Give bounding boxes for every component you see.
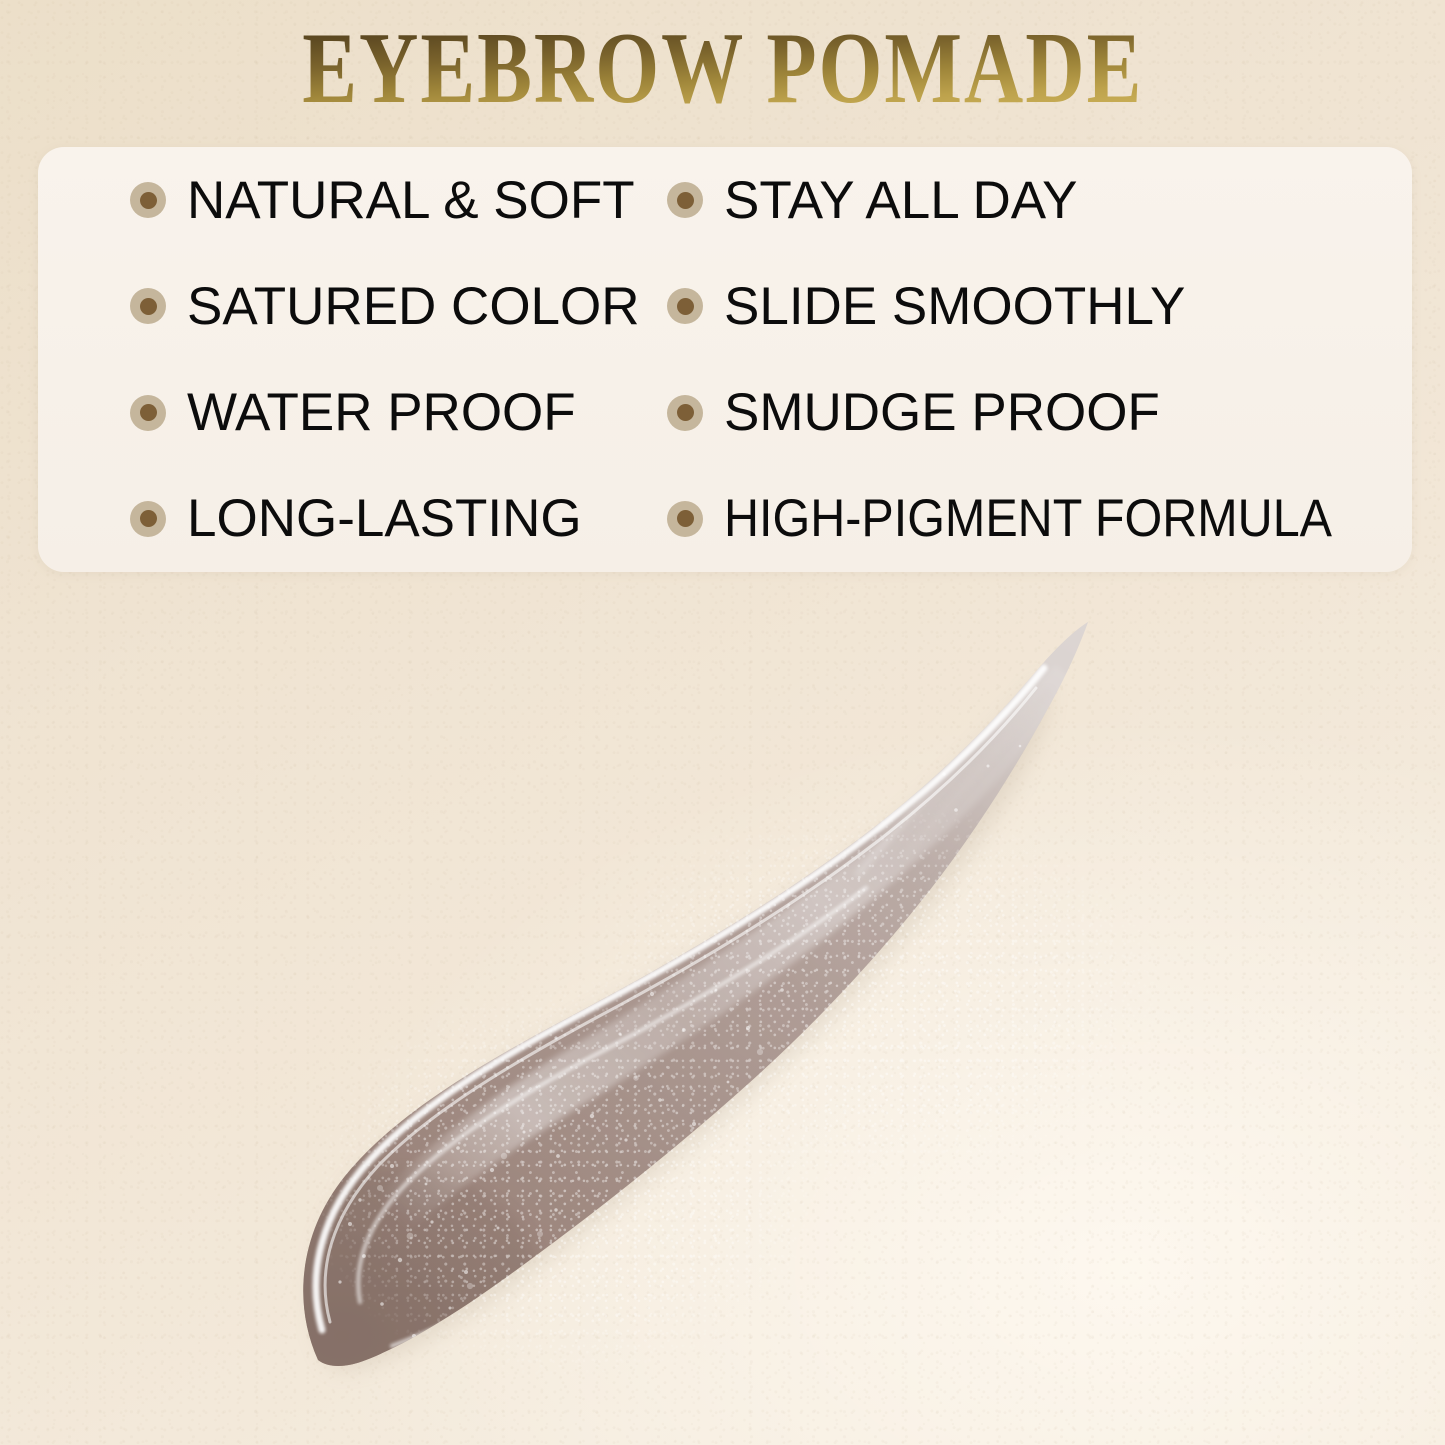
feature-label: HIGH-PIGMENT FORMULA xyxy=(724,492,1332,545)
feature-item-natural-soft: NATURAL & SOFT xyxy=(38,147,605,253)
pomade-swatch-svg xyxy=(0,560,1445,1445)
feature-label: SMUDGE PROOF xyxy=(724,386,1160,439)
feature-label: SATURED COLOR xyxy=(187,280,640,333)
bullet-dot-icon xyxy=(667,395,703,431)
feature-label: LONG-LASTING xyxy=(187,492,582,545)
bullet-dot-icon xyxy=(667,501,703,537)
product-marketing-image: EYEBROW POMADE NATURAL & SOFT STAY ALL D… xyxy=(0,0,1445,1445)
features-grid: NATURAL & SOFT STAY ALL DAY SATURED COLO… xyxy=(38,147,1412,572)
page-title: EYEBROW POMADE xyxy=(302,18,1143,119)
feature-item-long-lasting: LONG-LASTING xyxy=(38,466,605,572)
bullet-dot-icon xyxy=(130,288,166,324)
feature-label: NATURAL & SOFT xyxy=(187,174,635,227)
feature-label: SLIDE SMOOTHLY xyxy=(724,280,1185,333)
feature-item-smudge-proof: SMUDGE PROOF xyxy=(605,360,1412,466)
bullet-dot-icon xyxy=(130,182,166,218)
feature-item-high-pigment-formula: HIGH-PIGMENT FORMULA xyxy=(605,466,1412,572)
feature-label: STAY ALL DAY xyxy=(724,174,1078,227)
feature-item-satured-color: SATURED COLOR xyxy=(38,253,605,359)
feature-item-slide-smoothly: SLIDE SMOOTHLY xyxy=(605,253,1412,359)
feature-label: WATER PROOF xyxy=(187,386,576,439)
features-card: NATURAL & SOFT STAY ALL DAY SATURED COLO… xyxy=(38,147,1412,572)
bullet-dot-icon xyxy=(667,182,703,218)
page-title-container: EYEBROW POMADE xyxy=(0,18,1445,101)
feature-item-stay-all-day: STAY ALL DAY xyxy=(605,147,1412,253)
feature-item-water-proof: WATER PROOF xyxy=(38,360,605,466)
bullet-dot-icon xyxy=(130,501,166,537)
swatch-body xyxy=(0,560,1445,1445)
bullet-dot-icon xyxy=(667,288,703,324)
pomade-swatch-image xyxy=(0,560,1445,1445)
bullet-dot-icon xyxy=(130,395,166,431)
